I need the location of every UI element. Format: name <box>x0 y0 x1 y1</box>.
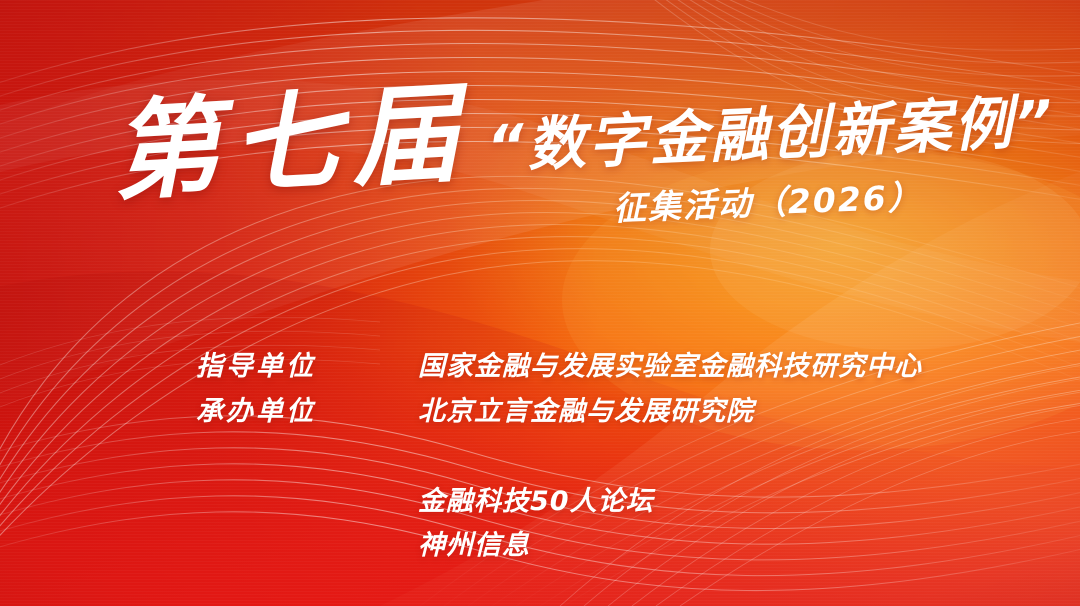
page-title-main: 第七届 <box>109 80 474 208</box>
organization-label-host: 承办单位 <box>196 397 316 427</box>
organization-row: 承办单位 北京立言金融与发展研究院 金融科技50人论坛 神州信息 <box>0 397 1080 442</box>
poster-canvas: 第七届 “数字金融创新案例” 征集活动（2026） 指导单位 国家金融与发展实验… <box>0 0 1080 606</box>
organization-value-host: 北京立言金融与发展研究院 <box>418 397 754 427</box>
page-subtitle: 征集活动（2026） <box>612 180 923 225</box>
organization-label-guidance: 指导单位 <box>196 352 316 382</box>
organization-value-host-extra-2: 神州信息 <box>418 531 530 561</box>
page-title-quoted: “数字金融创新案例” <box>486 92 1057 176</box>
organization-block: 指导单位 国家金融与发展实验室金融科技研究中心 承办单位 北京立言金融与发展研究… <box>0 352 1080 442</box>
organization-row: 指导单位 国家金融与发展实验室金融科技研究中心 <box>0 352 1080 397</box>
organization-value-guidance: 国家金融与发展实验室金融科技研究中心 <box>418 352 922 382</box>
poster-content: 第七届 “数字金融创新案例” 征集活动（2026） 指导单位 国家金融与发展实验… <box>0 0 1080 606</box>
organization-value-host-extra-1: 金融科技50人论坛 <box>418 487 654 517</box>
